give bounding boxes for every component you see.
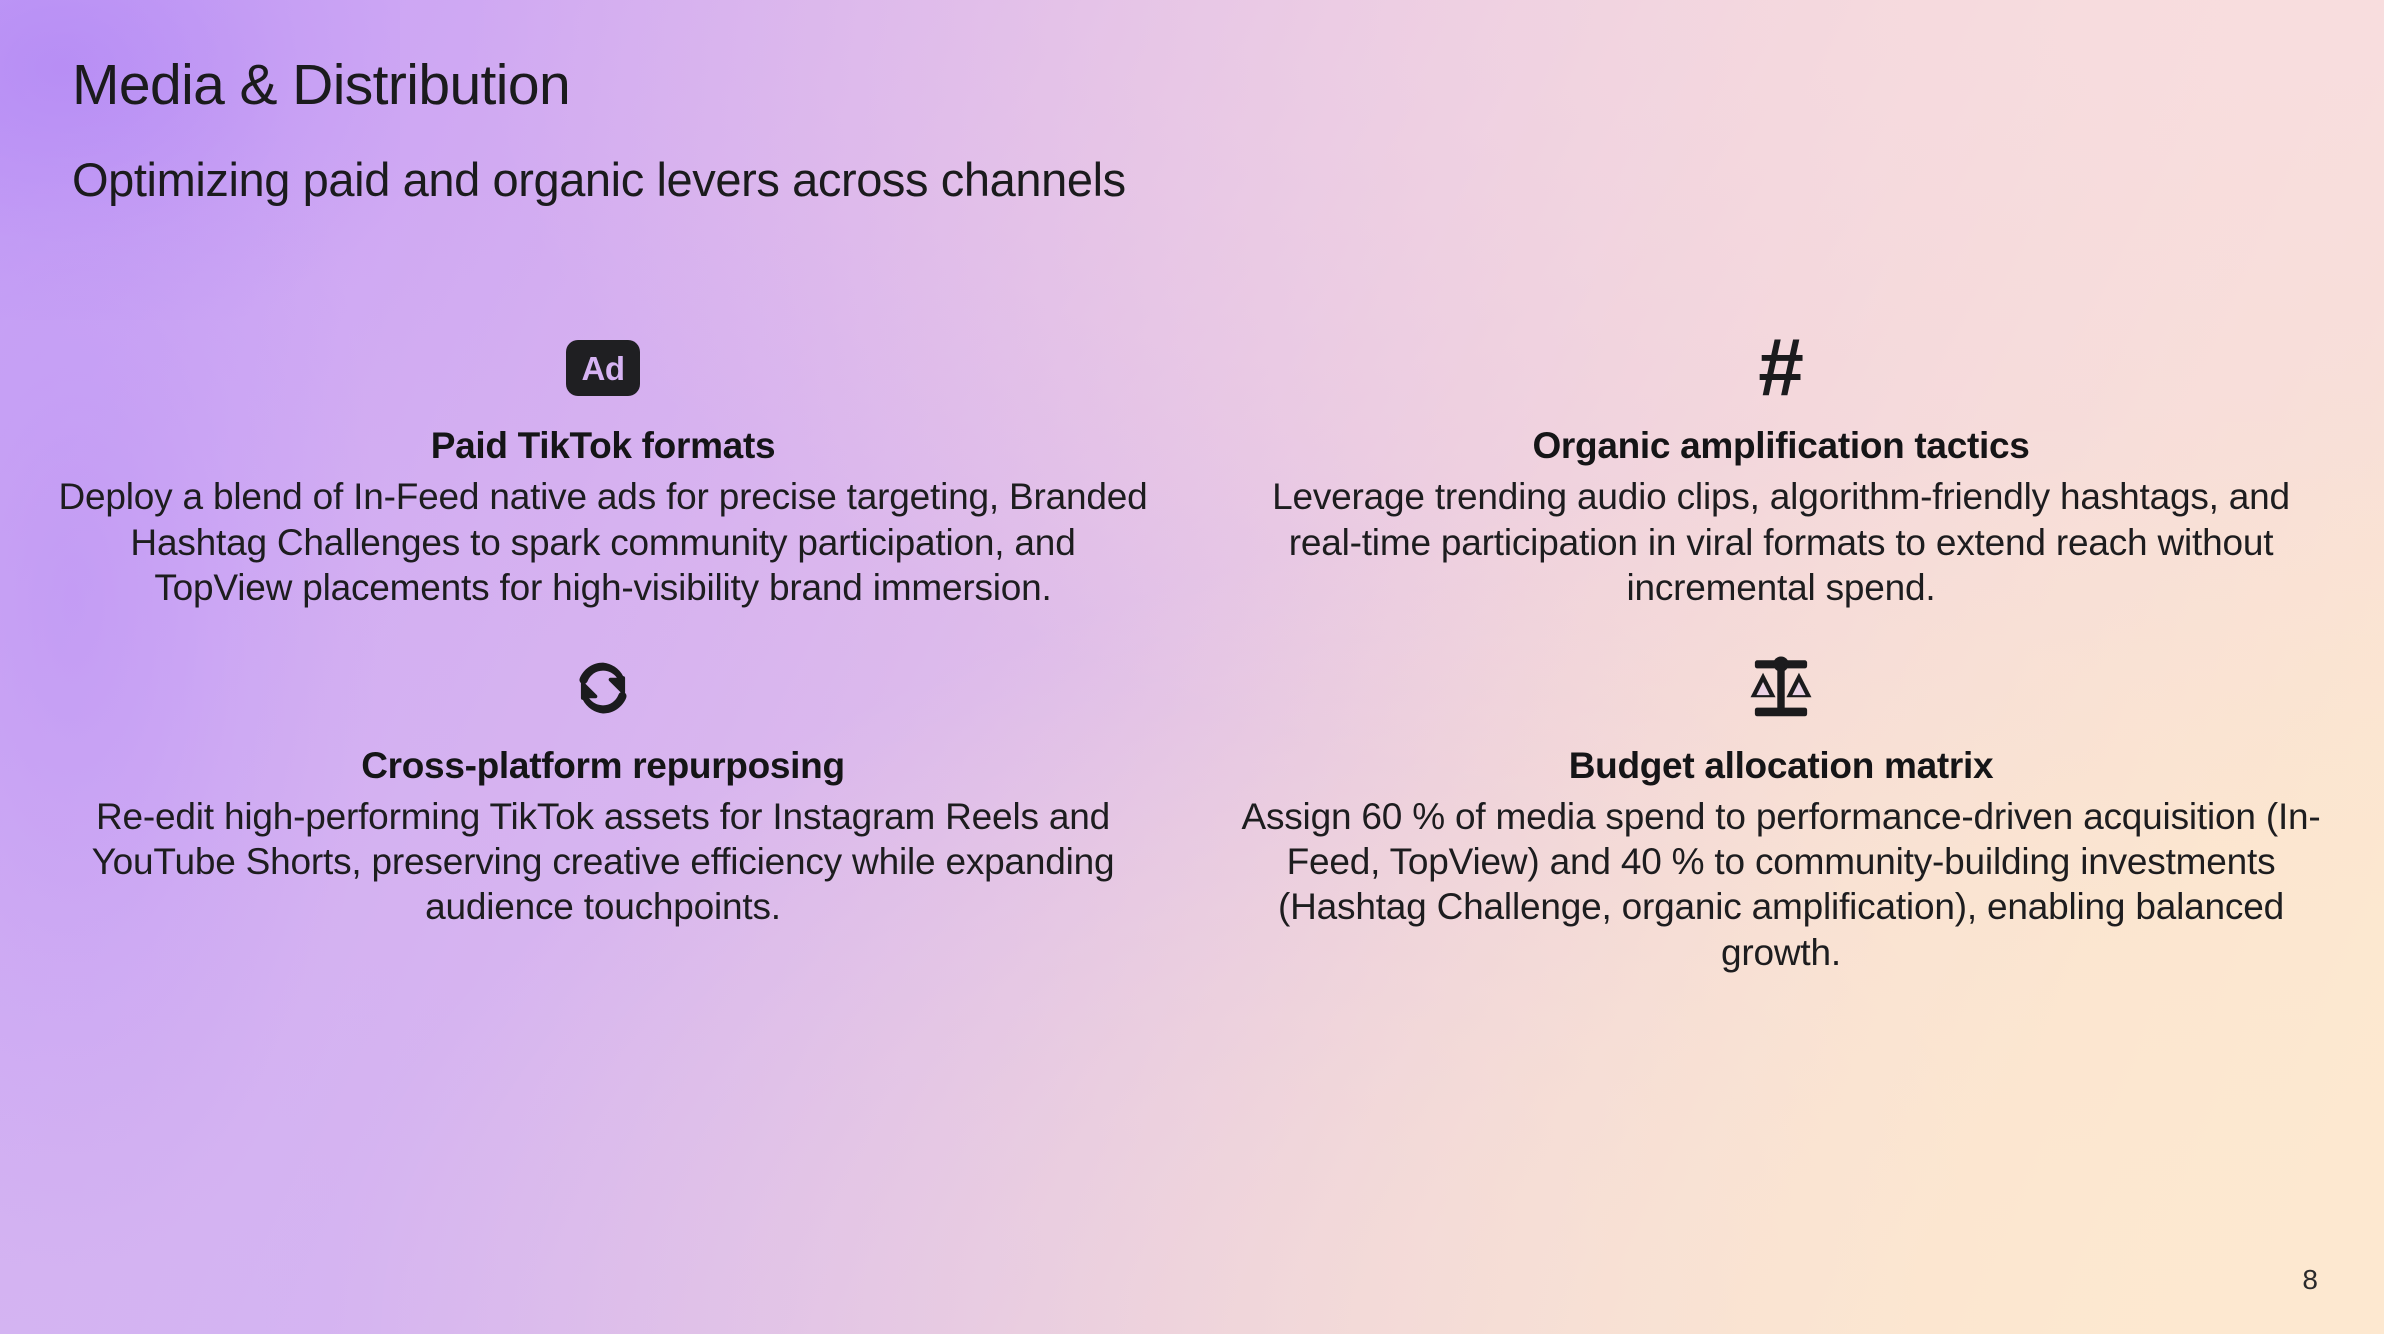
card-body: Assign 60 % of media spend to performanc… xyxy=(1236,794,2326,975)
ad-badge-icon: Ad xyxy=(566,330,640,406)
card-organic-amplification-tactics: # Organic amplification tactics Leverage… xyxy=(1222,330,2340,610)
page-number: 8 xyxy=(2302,1266,2318,1294)
card-title: Cross-platform repurposing xyxy=(361,744,845,788)
hashtag-icon: # xyxy=(1758,330,1804,406)
card-grid: Ad Paid TikTok formats Deploy a blend of… xyxy=(44,330,2340,975)
card-body: Leverage trending audio clips, algorithm… xyxy=(1236,474,2326,609)
card-title: Budget allocation matrix xyxy=(1569,744,1994,788)
card-body: Re-edit high-performing TikTok assets fo… xyxy=(58,794,1148,929)
slide-header: Media & Distribution Optimizing paid and… xyxy=(72,54,1972,206)
refresh-arrows-icon xyxy=(566,650,640,726)
card-title: Organic amplification tactics xyxy=(1532,424,2029,468)
ad-badge-label: Ad xyxy=(582,352,625,385)
card-body: Deploy a blend of In-Feed native ads for… xyxy=(58,474,1148,609)
card-paid-tiktok-formats: Ad Paid TikTok formats Deploy a blend of… xyxy=(44,330,1162,610)
page-subtitle: Optimizing paid and organic levers acros… xyxy=(72,154,1972,207)
page-title: Media & Distribution xyxy=(72,54,1972,118)
hashtag-glyph: # xyxy=(1758,331,1804,405)
card-cross-platform-repurposing: Cross-platform repurposing Re-edit high-… xyxy=(44,650,1162,975)
balance-scales-icon xyxy=(1744,650,1818,726)
card-title: Paid TikTok formats xyxy=(431,424,776,468)
card-budget-allocation-matrix: Budget allocation matrix Assign 60 % of … xyxy=(1222,650,2340,975)
slide: Media & Distribution Optimizing paid and… xyxy=(0,0,2384,1334)
